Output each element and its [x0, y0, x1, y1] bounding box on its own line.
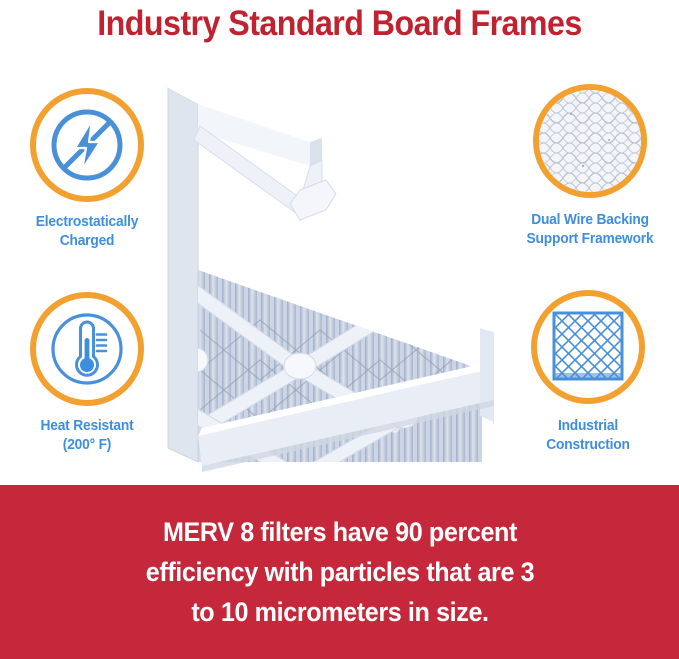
- feature-label-industrial-construction: Industrial Construction: [507, 417, 669, 455]
- lattice-grid-square-icon: [537, 296, 639, 398]
- feature-label-line1: Industrial: [507, 417, 669, 436]
- feature-label-line1: Dual Wire Backing: [509, 211, 671, 230]
- banner-line-1: MERV 8 filters have 90 percent: [51, 512, 628, 552]
- feature-label-line2: (200° F): [6, 436, 168, 455]
- banner-line-2: efficiency with particles that are 3: [51, 552, 628, 592]
- feature-label-line1: Heat Resistant: [6, 417, 168, 436]
- thermometer-icon: [36, 298, 138, 400]
- feature-label-heat-resistant: Heat Resistant (200° F): [6, 417, 168, 455]
- banner-text: MERV 8 filters have 90 percent efficienc…: [51, 512, 628, 632]
- infographic-page: Industry Standard Board Frames Electrost…: [0, 0, 679, 659]
- feature-electrostatically-charged: Electrostatically Charged: [2, 88, 172, 251]
- feature-label-dual-wire-backing: Dual Wire Backing Support Framework: [509, 211, 671, 249]
- feature-label-line2: Charged: [6, 232, 168, 251]
- lightning-bolt-no-symbol-icon: [36, 94, 138, 196]
- wire-mesh-photo-icon: [537, 88, 643, 194]
- badge-ring-electrostatically-charged: [30, 88, 144, 202]
- pleated-air-filter-illustration: [150, 70, 530, 480]
- feature-label-line2: Support Framework: [509, 230, 671, 249]
- badge-ring-industrial-construction: [531, 290, 645, 404]
- feature-label-line1: Electrostatically: [6, 213, 168, 232]
- banner-line-3: to 10 micrometers in size.: [51, 592, 628, 632]
- badge-ring-heat-resistant: [30, 292, 144, 406]
- feature-dual-wire-backing: Dual Wire Backing Support Framework: [505, 84, 675, 249]
- feature-label-line2: Construction: [507, 436, 669, 455]
- merv-rating-banner: MERV 8 filters have 90 percent efficienc…: [0, 485, 679, 659]
- feature-label-electrostatically-charged: Electrostatically Charged: [6, 213, 168, 251]
- feature-heat-resistant: Heat Resistant (200° F): [2, 292, 172, 455]
- page-title: Industry Standard Board Frames: [27, 2, 652, 46]
- badge-ring-dual-wire-backing: [533, 84, 647, 198]
